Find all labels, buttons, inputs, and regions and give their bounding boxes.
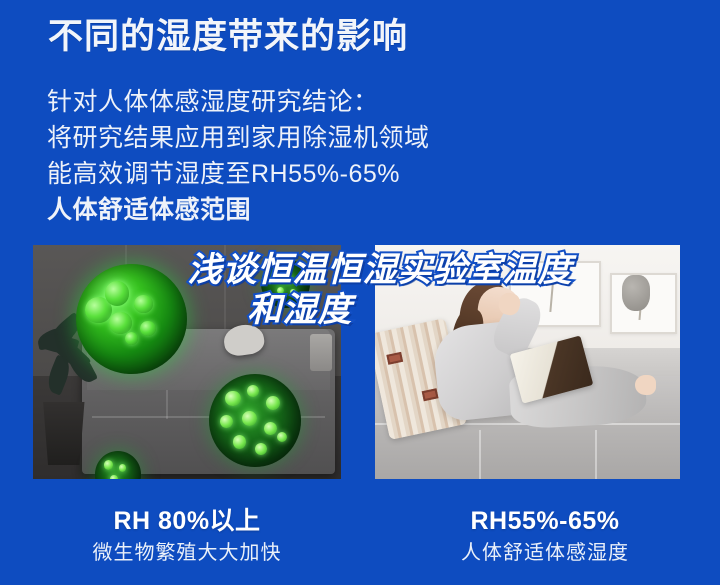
intro-line-3: 能高效调节湿度至RH55%-65% bbox=[47, 156, 517, 192]
dark-room-scene bbox=[33, 245, 341, 479]
poster-root: 不同的湿度带来的影响 针对人体体感湿度研究结论： 将研究结果应用到家用除湿机领域… bbox=[0, 0, 720, 585]
intro-line-2: 将研究结果应用到家用除湿机领域 bbox=[47, 120, 517, 156]
image-panel-comfort-humidity bbox=[375, 245, 680, 479]
germ-sphere-large bbox=[76, 264, 187, 374]
bright-room-scene bbox=[375, 245, 680, 479]
caption-comfort-humidity: RH55%-65% 人体舒适体感湿度 bbox=[395, 506, 695, 566]
intro-line-4: 人体舒适体感范围 bbox=[47, 192, 517, 228]
caption-left-title: RH 80%以上 bbox=[37, 506, 337, 536]
caption-left-subtitle: 微生物繁殖大大加快 bbox=[37, 540, 337, 566]
intro-line-1: 针对人体体感湿度研究结论： bbox=[47, 84, 517, 120]
sofa-seam bbox=[166, 390, 168, 419]
germ-sphere-bottom bbox=[209, 374, 301, 468]
caption-right-title: RH55%-65% bbox=[395, 506, 695, 536]
woman-reading bbox=[399, 273, 661, 470]
caption-high-humidity: RH 80%以上 微生物繁殖大大加快 bbox=[37, 506, 337, 566]
caption-right-subtitle: 人体舒适体感湿度 bbox=[395, 540, 695, 566]
page-title: 不同的湿度带来的影响 bbox=[48, 16, 408, 59]
side-object bbox=[310, 334, 332, 371]
image-panel-high-humidity bbox=[33, 245, 341, 479]
intro-paragraph: 针对人体体感湿度研究结论： 将研究结果应用到家用除湿机领域 能高效调节湿度至RH… bbox=[47, 84, 517, 228]
germ-sphere-small-top bbox=[261, 259, 310, 308]
